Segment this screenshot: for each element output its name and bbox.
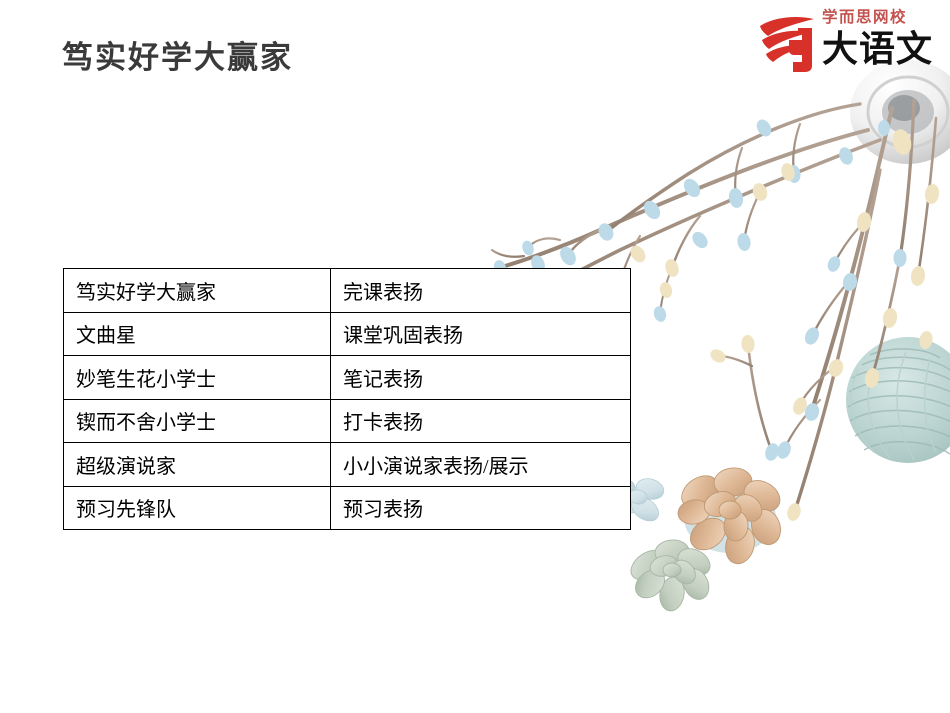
table-row: 文曲星 课堂巩固表扬	[64, 312, 631, 356]
slide-canvas: 笃实好学大赢家 学而思网校 大语文 笃实好学大赢家 完课表扬 文曲星	[0, 0, 950, 713]
award-desc-cell: 完课表扬	[331, 269, 631, 313]
award-name-cell: 笃实好学大赢家	[64, 269, 331, 313]
logo-text-block: 学而思网校 大语文	[822, 6, 944, 69]
table-row: 预习先锋队 预习表扬	[64, 486, 631, 530]
award-desc-cell: 笔记表扬	[331, 356, 631, 400]
page-title: 笃实好学大赢家	[62, 32, 293, 77]
award-name-cell: 妙笔生花小学士	[64, 356, 331, 400]
logo-subtitle: 学而思网校	[822, 6, 944, 30]
table-row: 超级演说家 小小演说家表扬/展示	[64, 443, 631, 487]
award-desc-cell: 小小演说家表扬/展示	[331, 443, 631, 487]
award-desc-cell: 打卡表扬	[331, 399, 631, 443]
xueersi-wing-mark-icon	[758, 12, 822, 74]
award-desc-cell: 课堂巩固表扬	[331, 312, 631, 356]
yarn-ball-icon	[846, 337, 950, 463]
table-row: 锲而不舍小学士 打卡表扬	[64, 399, 631, 443]
logo-title: 大语文	[822, 30, 944, 69]
award-table-body: 笃实好学大赢家 完课表扬 文曲星 课堂巩固表扬 妙笔生花小学士 笔记表扬 锲而不…	[64, 269, 631, 530]
award-table: 笃实好学大赢家 完课表扬 文曲星 课堂巩固表扬 妙笔生花小学士 笔记表扬 锲而不…	[63, 268, 631, 530]
award-desc-cell: 预习表扬	[331, 486, 631, 530]
table-row: 笃实好学大赢家 完课表扬	[64, 269, 631, 313]
table-row: 妙笔生花小学士 笔记表扬	[64, 356, 631, 400]
brand-logo: 学而思网校 大语文	[756, 4, 944, 82]
award-name-cell: 文曲星	[64, 312, 331, 356]
award-name-cell: 锲而不舍小学士	[64, 399, 331, 443]
succulent-green-icon	[626, 539, 715, 613]
succulent-tan-icon	[676, 466, 786, 567]
award-name-cell: 超级演说家	[64, 443, 331, 487]
award-name-cell: 预习先锋队	[64, 486, 331, 530]
